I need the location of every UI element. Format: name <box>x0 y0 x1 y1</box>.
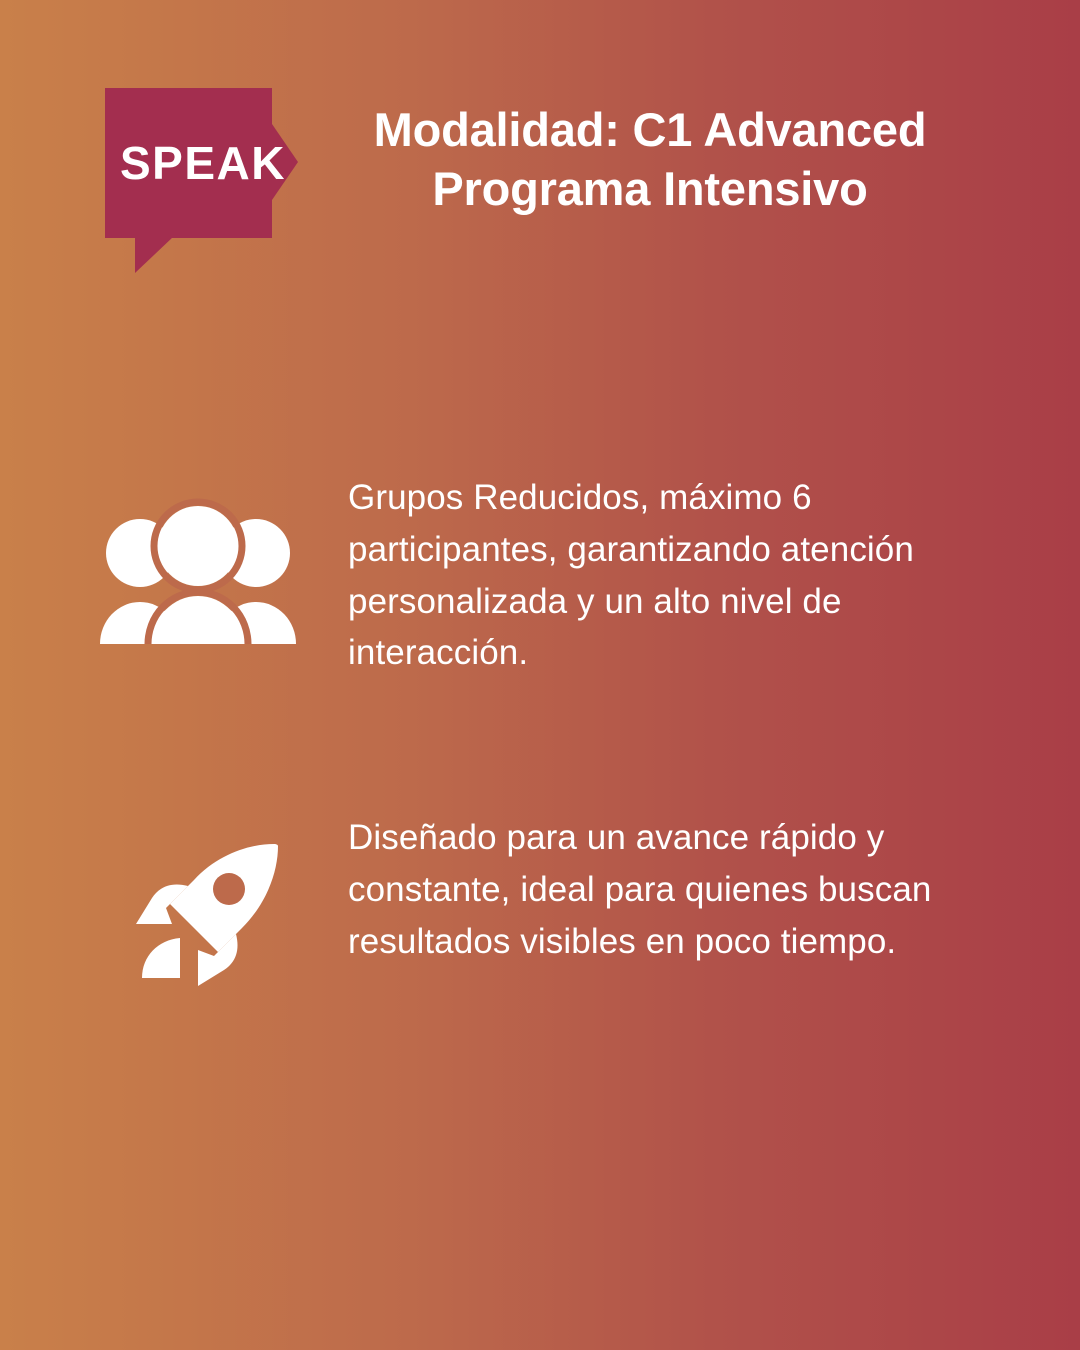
feature-item-avance-rapido: Diseñado para un avance rápido y constan… <box>0 812 1080 982</box>
people-group-icon <box>100 509 296 644</box>
feature-text-grupos-reducidos: Grupos Reducidos, máximo 6 participantes… <box>348 472 958 679</box>
feature-text-avance-rapido: Diseñado para un avance rápido y constan… <box>348 812 958 967</box>
brand-name: SPEAK <box>105 88 301 238</box>
brand-logo[interactable]: SPEAK <box>105 88 305 268</box>
page-title-line-1: Modalidad: C1 Advanced <box>320 100 980 159</box>
poster-header: SPEAK Modalidad: C1 Advanced Programa In… <box>0 0 1080 270</box>
poster-canvas: SPEAK Modalidad: C1 Advanced Programa In… <box>0 0 1080 1350</box>
feature-item-grupos-reducidos: Grupos Reducidos, máximo 6 participantes… <box>0 472 1080 679</box>
page-title: Modalidad: C1 Advanced Programa Intensiv… <box>320 100 980 218</box>
rocket-icon <box>132 842 280 982</box>
feature-icon-container <box>100 472 310 642</box>
page-title-line-2: Programa Intensivo <box>320 159 980 218</box>
rocket-window-icon <box>213 873 245 905</box>
feature-icon-container <box>100 812 310 982</box>
speech-bubble-tail-icon <box>135 237 173 273</box>
